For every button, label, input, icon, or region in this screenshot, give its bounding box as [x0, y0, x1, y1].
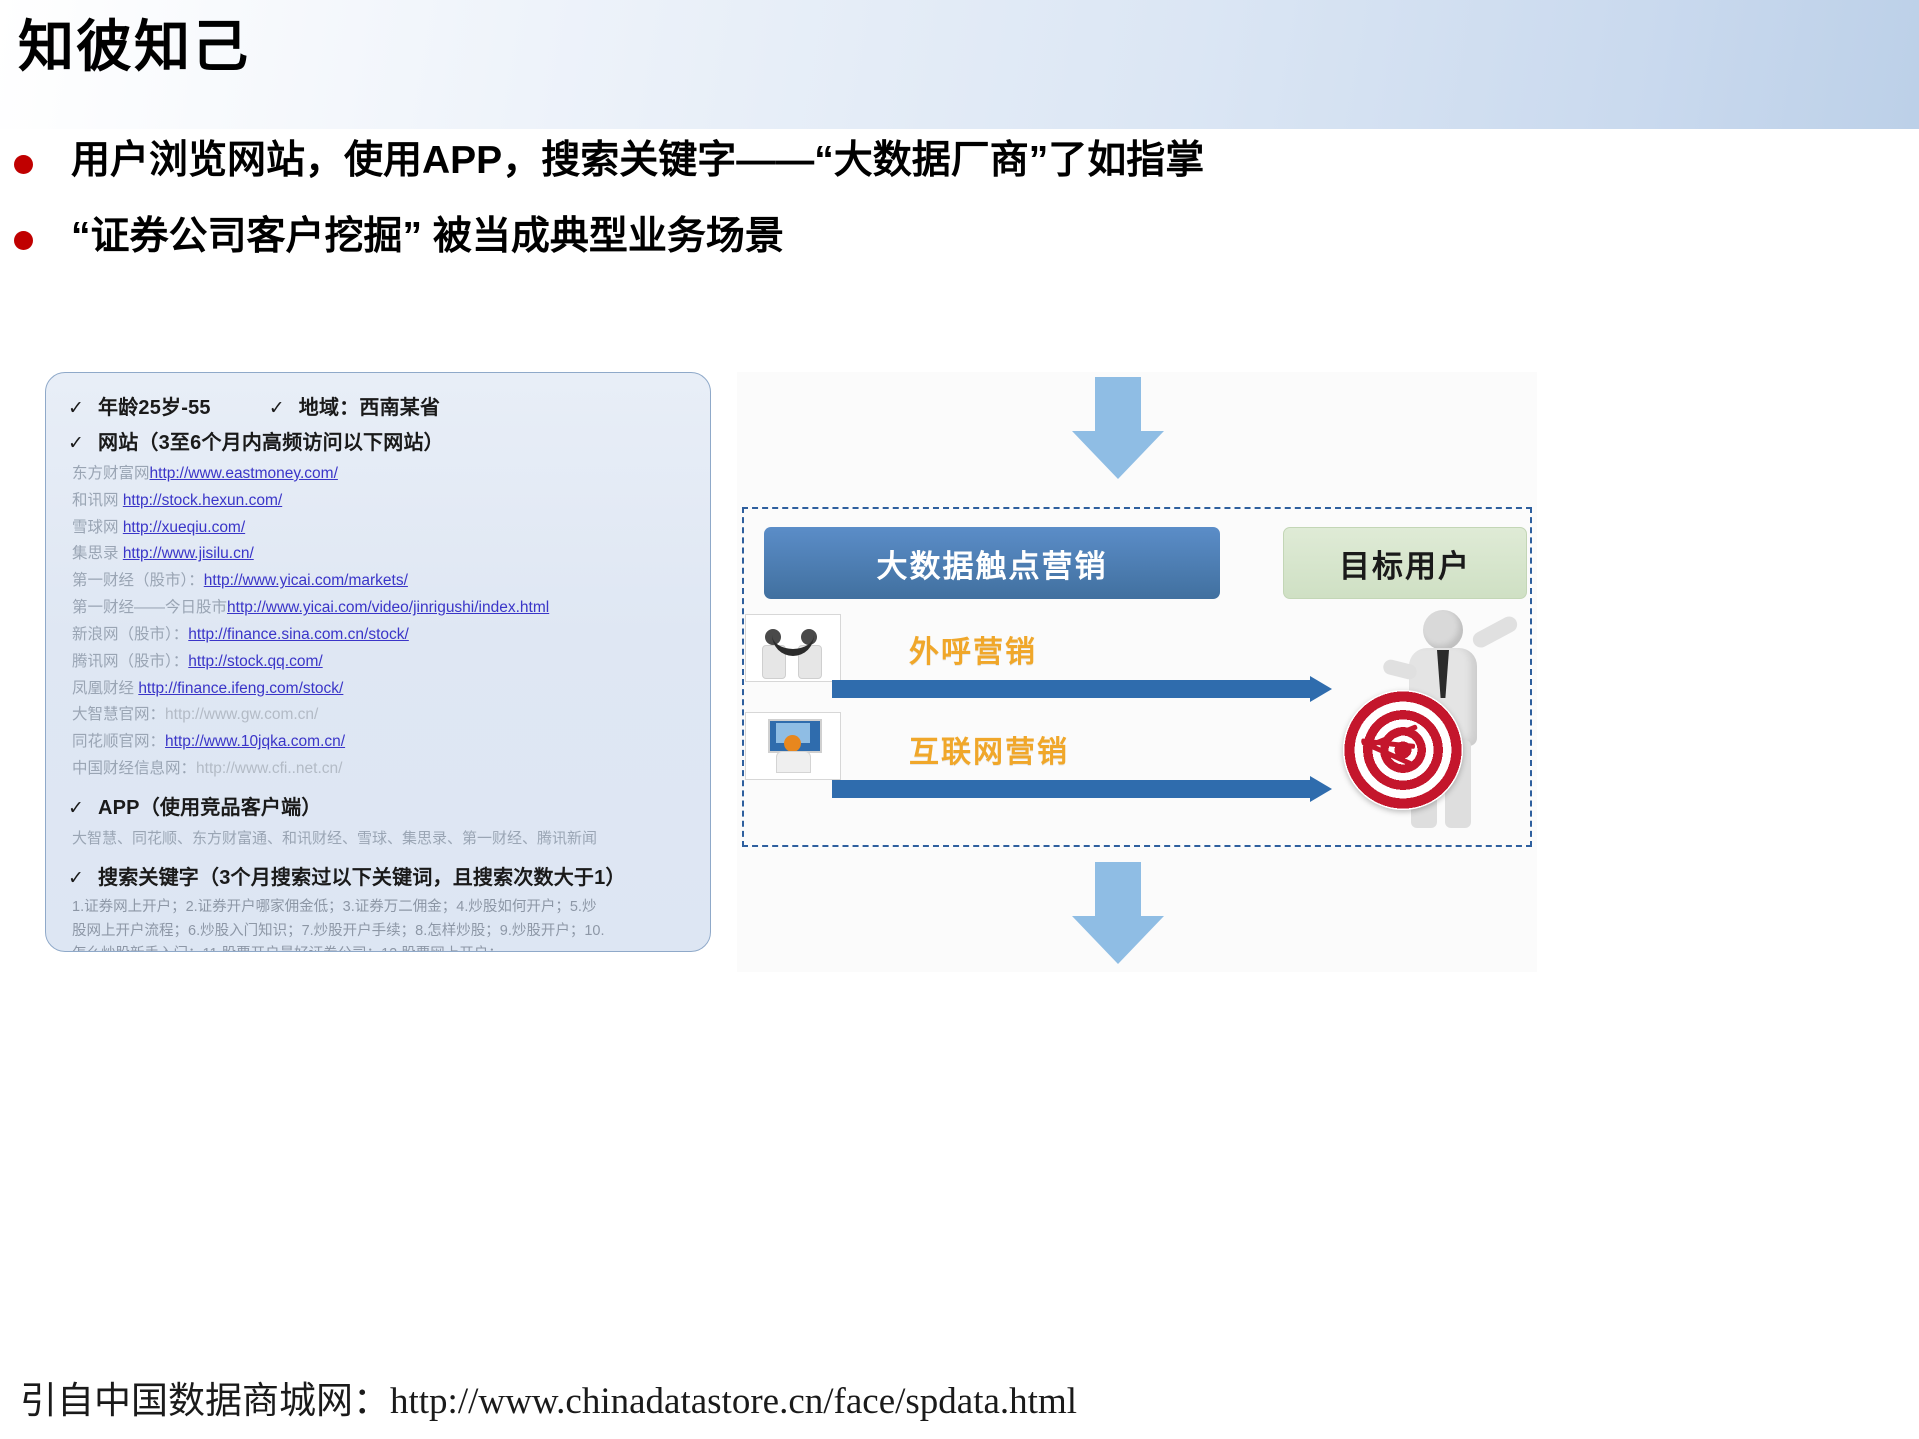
website-name: 第一财经——今日股市 — [72, 599, 227, 616]
keyword-line: 1.证券网上开户；2.证券开户哪家佣金低；3.证券万二佣金；4.炒股如何开户；5… — [72, 896, 688, 919]
website-url-row: 腾讯网（股市）：http://stock.qq.com/ — [72, 649, 688, 676]
down-arrow-icon — [1072, 862, 1164, 962]
website-url-row: 中国财经信息网：http://www.cfi..net.cn/ — [72, 756, 688, 783]
criteria-websites-heading: ✓ 网站（3至6个月内高频访问以下网站） — [68, 426, 688, 455]
website-url-row: 东方财富网http://www.eastmoney.com/ — [72, 461, 688, 488]
website-url[interactable]: http://www.yicai.com/video/jinrigushi/in… — [227, 599, 549, 616]
app-heading-label: APP（使用竞品客户端） — [98, 791, 322, 820]
down-arrow-icon — [1072, 377, 1164, 477]
website-name: 雪球网 — [72, 519, 123, 536]
check-icon: ✓ — [68, 432, 98, 455]
websites-heading-label: 网站（3至6个月内高频访问以下网站） — [98, 426, 444, 455]
channel-label-internet: 互联网营销 — [909, 727, 1069, 771]
source-note: 引自中国数据商城网：http://www.chinadatastore.cn/f… — [20, 1370, 1077, 1424]
website-url-list: 东方财富网http://www.eastmoney.com/和讯网 http:/… — [72, 461, 688, 783]
website-url: http://www.gw.com.cn/ — [165, 706, 318, 723]
website-url[interactable]: http://www.yicai.com/markets/ — [204, 572, 408, 589]
bullet-text-2: “证券公司客户挖掘” 被当成典型业务场景 — [71, 213, 784, 262]
website-url[interactable]: http://www.10jqka.com.cn/ — [165, 733, 345, 750]
website-name: 东方财富网 — [72, 465, 150, 482]
website-url-row: 凤凰财经 http://finance.ifeng.com/stock/ — [72, 676, 688, 703]
bullet-dot-icon — [14, 231, 33, 250]
website-url: http://www.cfi..net.cn/ — [196, 760, 342, 777]
website-url[interactable]: http://finance.ifeng.com/stock/ — [138, 680, 343, 697]
check-icon: ✓ — [68, 867, 98, 890]
website-name: 和讯网 — [72, 492, 123, 509]
bullet-dot-icon — [14, 155, 33, 174]
check-icon: ✓ — [68, 397, 98, 420]
keyword-line: 股网上开户流程；6.炒股入门知识；7.炒股开户手续；8.怎样炒股；9.炒股开户；… — [72, 920, 688, 943]
channel-label-outbound: 外呼营销 — [909, 627, 1037, 671]
website-url[interactable]: http://stock.qq.com/ — [188, 653, 322, 670]
header-band — [0, 0, 1919, 129]
criteria-region-label: 地域：西南某省 — [299, 391, 440, 420]
bullet-item-2: “证券公司客户挖掘” 被当成典型业务场景 — [14, 213, 784, 262]
dartboard-icon — [1343, 690, 1463, 810]
website-url[interactable]: http://finance.sina.com.cn/stock/ — [188, 626, 409, 643]
flow-arrow-outbound — [832, 676, 1332, 702]
criteria-age-label: 年龄25岁-55 — [98, 391, 211, 420]
check-icon: ✓ — [269, 397, 299, 420]
criteria-keyword-heading: ✓ 搜索关键字（3个月搜索过以下关键词，且搜索次数大于1） — [68, 861, 688, 890]
website-url[interactable]: http://www.eastmoney.com/ — [150, 465, 338, 482]
website-url-row: 和讯网 http://stock.hexun.com/ — [72, 488, 688, 515]
website-name: 集思录 — [72, 545, 123, 562]
website-url[interactable]: http://stock.hexun.com/ — [123, 492, 282, 509]
website-url-row: 第一财经——今日股市http://www.yicai.com/video/jin… — [72, 595, 688, 622]
criteria-row-demographics: ✓ 年龄25岁-55 ✓ 地域：西南某省 — [68, 391, 688, 420]
marketing-flow-diagram: 大数据触点营销 目标用户 外呼营销 互联网营销 — [737, 372, 1537, 972]
website-name: 大智慧官网： — [72, 706, 165, 723]
internet-user-icon — [745, 712, 841, 780]
keyword-list: 1.证券网上开户；2.证券开户哪家佣金低；3.证券万二佣金；4.炒股如何开户；5… — [72, 896, 688, 952]
keyword-heading-label: 搜索关键字（3个月搜索过以下关键词，且搜索次数大于1） — [98, 861, 626, 890]
website-name: 同花顺官网： — [72, 733, 165, 750]
target-user-box: 目标用户 — [1283, 527, 1527, 599]
criteria-app-heading: ✓ APP（使用竞品客户端） — [68, 791, 688, 820]
flow-arrow-internet — [832, 776, 1332, 802]
website-name: 新浪网（股市）： — [72, 626, 188, 643]
bigdata-touchpoint-box: 大数据触点营销 — [764, 527, 1220, 599]
website-name: 凤凰财经 — [72, 680, 138, 697]
website-url-row: 同花顺官网：http://www.10jqka.com.cn/ — [72, 729, 688, 756]
keyword-line: 怎么炒股新手入门；11.股票开户最好证券公司；12.股票网上开户； — [72, 943, 688, 952]
website-url-row: 第一财经（股市）：http://www.yicai.com/markets/ — [72, 568, 688, 595]
website-name: 中国财经信息网： — [72, 760, 196, 777]
website-url-row: 大智慧官网：http://www.gw.com.cn/ — [72, 702, 688, 729]
website-url[interactable]: http://xueqiu.com/ — [123, 519, 245, 536]
website-url[interactable]: http://www.jisilu.cn/ — [123, 545, 254, 562]
bullet-text-1: 用户浏览网站，使用APP，搜索关键字——“大数据厂商”了如指掌 — [71, 137, 1204, 186]
page-title: 知彼知己 — [18, 18, 250, 77]
website-url-row: 集思录 http://www.jisilu.cn/ — [72, 541, 688, 568]
app-list-text: 大智慧、同花顺、东方财富通、和讯财经、雪球、集思录、第一财经、腾讯新闻 — [72, 826, 688, 852]
bullet-item-1: 用户浏览网站，使用APP，搜索关键字——“大数据厂商”了如指掌 — [14, 137, 1204, 186]
website-url-row: 新浪网（股市）：http://finance.sina.com.cn/stock… — [72, 622, 688, 649]
website-name: 腾讯网（股市）： — [72, 653, 188, 670]
customer-criteria-panel: ✓ 年龄25岁-55 ✓ 地域：西南某省 ✓ 网站（3至6个月内高频访问以下网站… — [45, 372, 711, 952]
call-center-icon — [745, 614, 841, 682]
website-name: 第一财经（股市）： — [72, 572, 204, 589]
website-url-row: 雪球网 http://xueqiu.com/ — [72, 515, 688, 542]
check-icon: ✓ — [68, 797, 98, 820]
